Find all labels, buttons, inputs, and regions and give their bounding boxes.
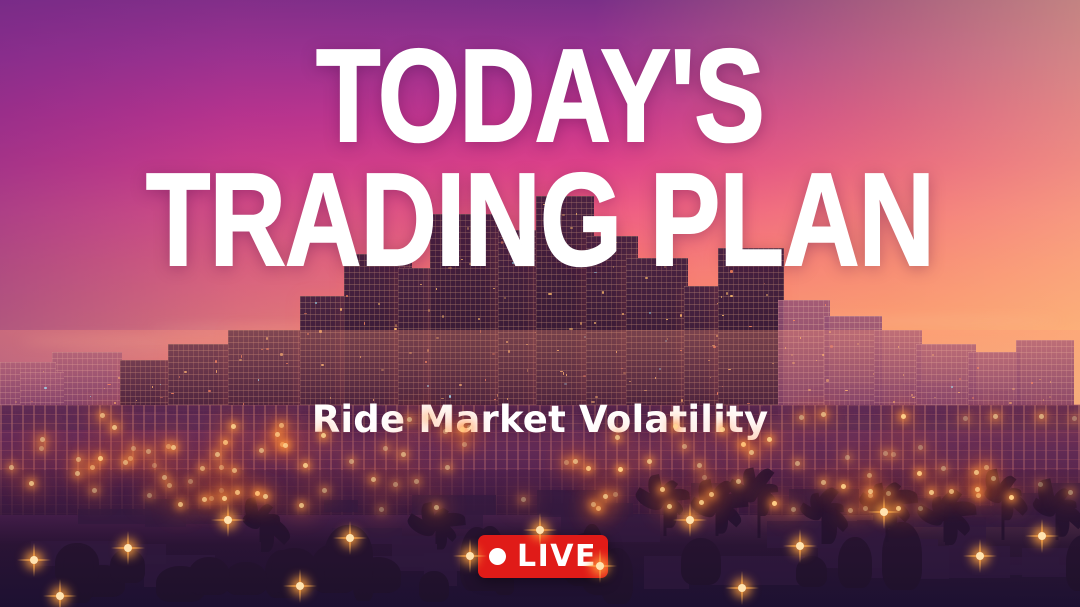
street-light	[791, 507, 796, 512]
palm-tree-silhouette	[742, 480, 776, 538]
street-light	[883, 451, 888, 456]
street-light	[709, 492, 714, 497]
window-light	[215, 360, 217, 363]
street-light	[303, 463, 308, 468]
street-lamp-flare	[333, 521, 367, 555]
street-light	[867, 473, 872, 478]
window-light	[622, 313, 625, 314]
window-light	[829, 331, 831, 332]
street-light	[162, 475, 167, 480]
street-light	[772, 501, 777, 506]
street-light	[918, 445, 923, 450]
window-light	[562, 214, 565, 216]
window-light	[645, 277, 647, 279]
street-light	[993, 414, 998, 419]
street-light	[434, 505, 439, 510]
window-light	[680, 314, 682, 317]
window-light	[898, 346, 899, 347]
window-light	[208, 390, 211, 392]
window-light	[1031, 382, 1033, 384]
street-light	[167, 483, 172, 488]
street-light	[1068, 490, 1073, 495]
window-light	[469, 263, 472, 265]
street-lamp-flare	[963, 539, 997, 573]
palm-tree-silhouette	[420, 514, 454, 544]
street-light	[1009, 495, 1014, 500]
window-light	[816, 360, 817, 361]
window-light	[394, 328, 397, 331]
skyscraper	[626, 258, 688, 416]
window-light	[560, 371, 563, 372]
street-light	[283, 443, 288, 448]
street-light	[349, 459, 354, 464]
street-light	[1039, 414, 1044, 419]
window-light	[378, 303, 379, 305]
window-light	[613, 266, 614, 268]
street-lamp-flare	[283, 569, 317, 603]
window-light	[179, 376, 180, 378]
window-light	[160, 384, 161, 385]
palm-tree-silhouette	[986, 484, 1020, 540]
street-light	[821, 412, 826, 417]
window-light	[1012, 388, 1015, 390]
street-lamp-flare	[211, 503, 245, 537]
street-light	[100, 413, 105, 418]
street-light	[259, 448, 264, 453]
skyscraper	[430, 214, 504, 416]
street-light	[178, 502, 183, 507]
street-light	[202, 497, 207, 502]
street-light	[231, 424, 236, 429]
window-light	[456, 249, 458, 251]
window-light	[266, 337, 268, 340]
tree-silhouette	[188, 557, 231, 596]
tree-silhouette	[838, 537, 872, 589]
window-light	[319, 330, 322, 332]
street-light	[188, 479, 193, 484]
window-light	[903, 374, 905, 376]
window-light	[548, 293, 551, 295]
street-light	[299, 503, 304, 508]
rooftop	[78, 509, 220, 523]
street-lamp-flare	[453, 539, 487, 573]
street-light	[414, 479, 419, 484]
skyscraper	[718, 248, 784, 416]
street-light	[235, 490, 240, 495]
tree-silhouette	[1066, 535, 1080, 591]
street-light	[991, 476, 996, 481]
street-lamp-flare	[43, 579, 77, 607]
window-light	[666, 319, 668, 320]
street-light	[521, 497, 526, 502]
window-light	[340, 308, 343, 310]
street-light	[232, 468, 237, 473]
street-light	[975, 487, 980, 492]
street-light	[379, 507, 384, 512]
poster-subtitle: Ride Market Volatility	[0, 398, 1080, 441]
window-light	[845, 390, 848, 391]
street-light	[223, 440, 228, 445]
window-light	[569, 328, 572, 330]
window-light	[800, 337, 801, 339]
street-lamp-flare	[867, 495, 901, 529]
street-light	[741, 442, 746, 447]
window-light	[266, 348, 269, 350]
window-light	[506, 341, 508, 343]
window-light	[680, 350, 682, 351]
palm-tree-silhouette	[244, 510, 278, 542]
window-light	[241, 355, 242, 357]
street-light	[219, 465, 224, 470]
street-light	[279, 423, 284, 428]
street-light	[460, 427, 465, 432]
street-light	[603, 494, 608, 499]
window-light	[629, 381, 631, 383]
street-light	[918, 506, 923, 511]
tree-silhouette	[681, 538, 722, 585]
street-light	[682, 444, 687, 449]
window-light	[381, 369, 384, 371]
street-light	[255, 491, 260, 496]
window-light	[508, 350, 510, 353]
recording-dot-icon	[489, 548, 506, 565]
street-light	[222, 496, 227, 501]
window-light	[427, 385, 429, 387]
window-light	[436, 288, 437, 290]
window-light	[791, 354, 793, 356]
street-light	[736, 479, 741, 484]
street-light	[1038, 482, 1043, 487]
street-light	[9, 465, 14, 470]
street-light	[848, 508, 853, 513]
window-light	[543, 204, 545, 205]
window-light	[483, 228, 486, 229]
window-light	[216, 370, 217, 373]
street-lamp-flare	[111, 531, 145, 565]
window-light	[602, 291, 604, 294]
window-light	[649, 312, 651, 315]
window-light	[570, 227, 573, 229]
window-light	[730, 270, 733, 273]
street-light	[467, 425, 472, 430]
window-light	[360, 356, 361, 358]
street-light	[615, 435, 620, 440]
window-light	[766, 294, 768, 296]
street-light	[401, 452, 406, 457]
street-light	[1072, 416, 1077, 421]
street-light	[974, 470, 979, 475]
street-lamp-flare	[783, 529, 817, 563]
street-light	[76, 457, 81, 462]
window-light	[664, 266, 666, 269]
street-light	[40, 437, 45, 442]
window-light	[420, 284, 421, 285]
street-lamp-flare	[1025, 519, 1059, 553]
window-light	[512, 262, 514, 264]
window-light	[580, 322, 582, 324]
street-lamp-flare	[17, 543, 51, 577]
street-lamp-flare	[523, 513, 557, 547]
window-light	[728, 369, 730, 371]
tree-silhouette	[419, 571, 449, 602]
street-light	[767, 437, 772, 442]
street-light	[146, 449, 151, 454]
street-light	[917, 471, 922, 476]
window-light	[258, 379, 259, 380]
rooftop	[324, 500, 358, 512]
palm-tree-silhouette	[928, 504, 962, 542]
street-light	[941, 466, 946, 471]
window-light	[321, 364, 323, 366]
window-light	[492, 353, 495, 354]
street-light	[573, 459, 578, 464]
window-light	[713, 346, 716, 348]
street-light	[445, 465, 450, 470]
street-light	[75, 471, 80, 476]
poster-canvas: TODAY'S TRADING PLAN Ride Market Volatil…	[0, 0, 1080, 607]
window-light	[152, 386, 153, 388]
street-light	[215, 452, 220, 457]
street-lamp-flare	[725, 571, 759, 605]
window-light	[730, 295, 733, 296]
street-light	[596, 506, 601, 511]
street-light	[891, 452, 896, 457]
street-light	[564, 460, 569, 465]
street-lamp-flare	[583, 549, 617, 583]
window-light	[808, 389, 810, 391]
window-light	[726, 292, 727, 294]
street-light	[749, 450, 754, 455]
street-light	[147, 493, 152, 498]
street-lamp-flare	[673, 503, 707, 537]
window-light	[467, 227, 469, 230]
street-light	[821, 480, 826, 485]
window-light	[448, 267, 451, 269]
window-light	[44, 387, 47, 389]
window-light	[615, 242, 616, 243]
window-light	[857, 343, 859, 345]
window-light	[364, 322, 365, 324]
street-light	[383, 446, 388, 451]
tree-silhouette	[225, 562, 266, 596]
window-light	[665, 340, 667, 342]
street-light	[152, 463, 157, 468]
window-light	[911, 394, 912, 396]
window-light	[830, 345, 833, 348]
window-light	[644, 390, 647, 392]
street-light	[322, 488, 327, 493]
window-light	[436, 337, 439, 339]
window-light	[280, 353, 283, 356]
